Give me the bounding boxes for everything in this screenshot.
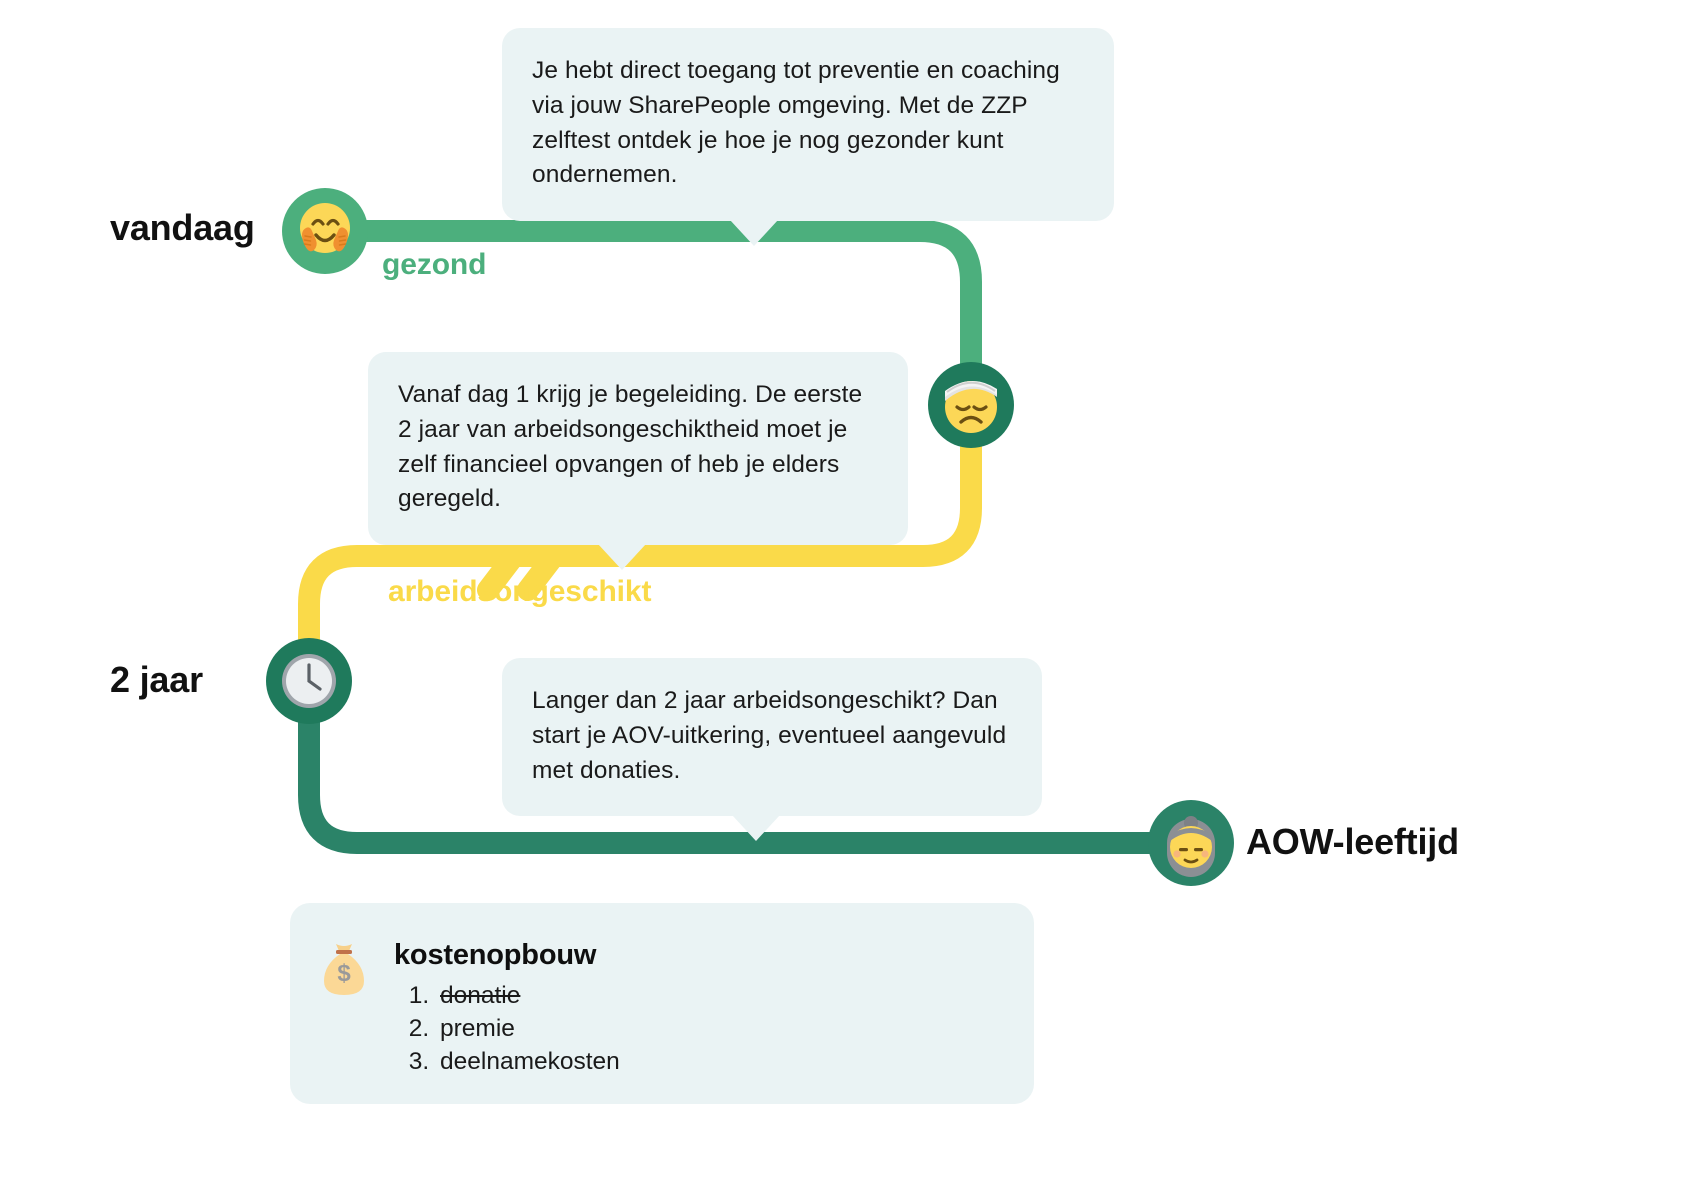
timeline-node-2-jaar[interactable] <box>266 638 352 724</box>
svg-text:$: $ <box>337 960 351 987</box>
timeline-infographic: Je hebt direct toegang tot preventie en … <box>0 0 1684 1200</box>
phase-label-gezond: gezond <box>382 248 486 282</box>
timeline-node-vandaag[interactable] <box>282 188 368 274</box>
bubble-payout-text: Langer dan 2 jaar arbeidsongeschikt? Dan… <box>532 687 1006 784</box>
time-label-aow-leeftijd: AOW-leeftijd <box>1246 821 1459 863</box>
bubble-payout: Langer dan 2 jaar arbeidsongeschikt? Dan… <box>502 658 1042 816</box>
smiling-face-with-hearts-hugging-emoji <box>289 195 361 267</box>
bubble-disability-text: Vanaf dag 1 krijg je begeleiding. De eer… <box>398 381 862 512</box>
clock-emoji <box>275 647 343 715</box>
cost-item-donatie: donatie <box>436 980 1004 1013</box>
bubble-prevention: Je hebt direct toegang tot preventie en … <box>502 28 1114 221</box>
money-bag-icon: $ <box>320 941 368 1002</box>
cost-card-body: kostenopbouw donatie premie deelnamekost… <box>394 927 1004 1078</box>
cost-card-title: kostenopbouw <box>394 939 1004 972</box>
bubble-prevention-text: Je hebt direct toegang tot preventie en … <box>532 57 1060 188</box>
money-bag-emoji: $ <box>320 941 368 997</box>
bubble-tail <box>598 544 646 570</box>
bubble-disability: Vanaf dag 1 krijg je begeleiding. De eer… <box>368 352 908 545</box>
bubble-tail <box>732 815 780 841</box>
time-label-2-jaar: 2 jaar <box>110 659 203 701</box>
older-person-emoji <box>1157 809 1225 877</box>
time-label-vandaag: vandaag <box>110 207 255 249</box>
timeline-node-arbeidsongeschikt[interactable] <box>928 362 1014 448</box>
face-with-head-bandage-emoji <box>937 371 1005 439</box>
cost-item-deelnamekosten: deelnamekosten <box>436 1046 1004 1079</box>
phase-label-arbeidsongeschikt: arbeidsongeschikt <box>388 575 651 609</box>
bubble-tail <box>730 220 778 246</box>
cost-items-list: donatie premie deelnamekosten <box>394 980 1004 1078</box>
timeline-node-aow-leeftijd[interactable] <box>1148 800 1234 886</box>
cost-item-premie: premie <box>436 1013 1004 1046</box>
cost-breakdown-card: $ kostenopbouw donatie premie deelnameko… <box>290 903 1034 1104</box>
